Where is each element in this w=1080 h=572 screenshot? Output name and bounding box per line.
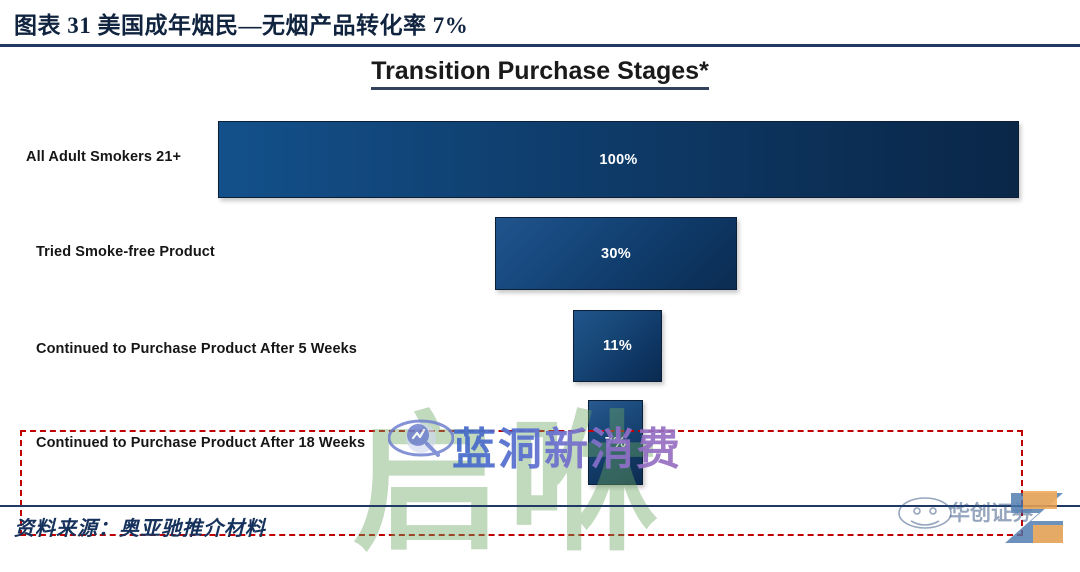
- chart-title-text: Transition Purchase Stages*: [371, 57, 709, 90]
- stage-label-after-5-weeks: Continued to Purchase Product After 5 We…: [36, 341, 357, 357]
- stage-label-all-adult-smokers: All Adult Smokers 21+: [26, 149, 181, 165]
- page-title: 图表 31 美国成年烟民—无烟产品转化率 7%: [14, 6, 468, 40]
- chart-container: Transition Purchase Stages* All Adult Sm…: [0, 47, 1080, 494]
- stage-label-tried-smoke-free: Tried Smoke-free Product: [36, 244, 215, 260]
- bar-value-label: 11%: [603, 338, 632, 354]
- footer-divider: [0, 505, 1080, 507]
- bar-tried-smoke-free: 30%: [495, 217, 737, 290]
- bar-all-adult-smokers: 100%: [218, 121, 1019, 198]
- exhibit-header: 图表 31 美国成年烟民—无烟产品转化率 7%: [0, 0, 1080, 46]
- bar-after-5-weeks: 11%: [573, 310, 662, 382]
- bar-value-label: 30%: [601, 246, 631, 262]
- bar-value-label: 100%: [599, 152, 637, 168]
- source-note: 资料来源：奥亚驰推介材料: [14, 512, 266, 541]
- chart-title: Transition Purchase Stages*: [0, 57, 1080, 86]
